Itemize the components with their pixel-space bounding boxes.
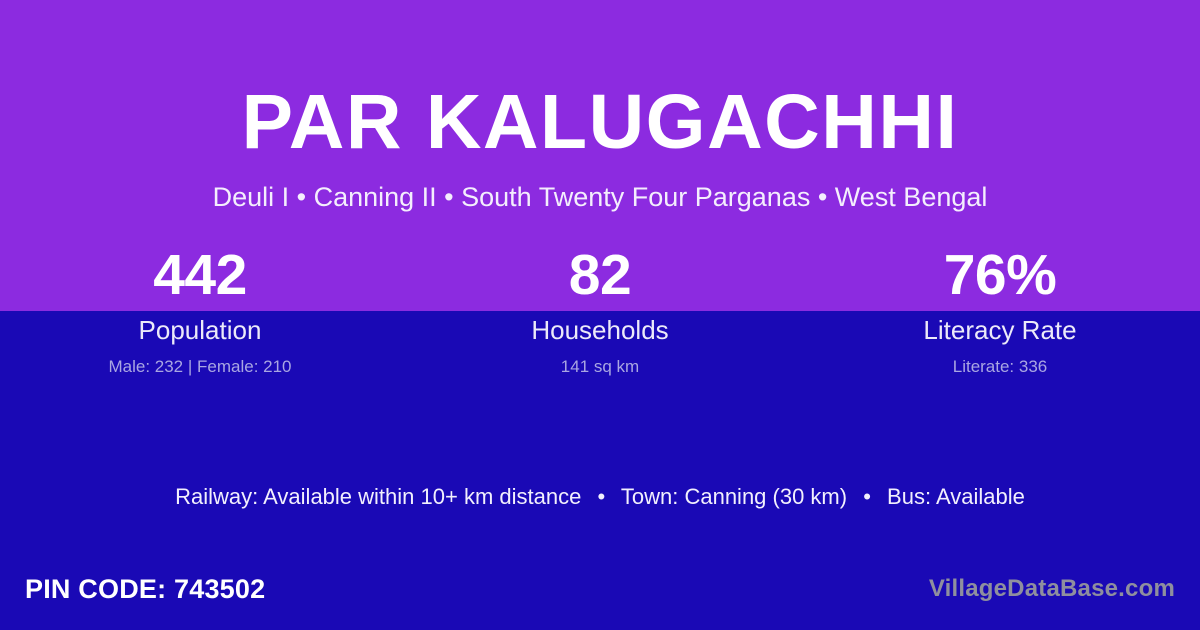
stat-households-sub: 141 sq km (400, 358, 800, 377)
transport-railway: Railway: Available within 10+ km distanc… (175, 484, 581, 509)
page-title: PAR KALUGACHHI (0, 0, 1200, 161)
card-header: PAR KALUGACHHI Deuli I • Canning II • So… (0, 0, 1200, 213)
stat-households: 82 Households 141 sq km (400, 247, 800, 376)
stats-row: 442 Population Male: 232 | Female: 210 8… (0, 247, 1200, 376)
breadcrumb: Deuli I • Canning II • South Twenty Four… (0, 161, 1200, 213)
pin-code-label: PIN CODE: 743502 (25, 576, 265, 603)
transport-separator-2: • (853, 484, 881, 510)
stat-literacy-rate-label: Literacy Rate (800, 316, 1200, 345)
card-footer: PIN CODE: 743502 VillageDataBase.com (0, 554, 1200, 630)
site-brand-label: VillageDataBase.com (929, 577, 1175, 601)
stat-literacy-rate-sub: Literate: 336 (800, 358, 1200, 377)
transport-separator-1: • (587, 484, 615, 510)
stat-population-label: Population (0, 316, 400, 345)
transport-info: Railway: Available within 10+ km distanc… (0, 484, 1200, 510)
stat-households-label: Households (400, 316, 800, 345)
stat-households-value: 82 (400, 247, 800, 304)
stat-population-value: 442 (0, 247, 400, 304)
transport-bus: Bus: Available (887, 484, 1025, 509)
stat-population-sub: Male: 232 | Female: 210 (0, 358, 400, 377)
village-info-card: PAR KALUGACHHI Deuli I • Canning II • So… (0, 0, 1200, 630)
stat-population: 442 Population Male: 232 | Female: 210 (0, 247, 400, 376)
transport-town: Town: Canning (30 km) (621, 484, 847, 509)
stat-literacy-rate: 76% Literacy Rate Literate: 336 (800, 247, 1200, 376)
stat-literacy-rate-value: 76% (800, 247, 1200, 304)
